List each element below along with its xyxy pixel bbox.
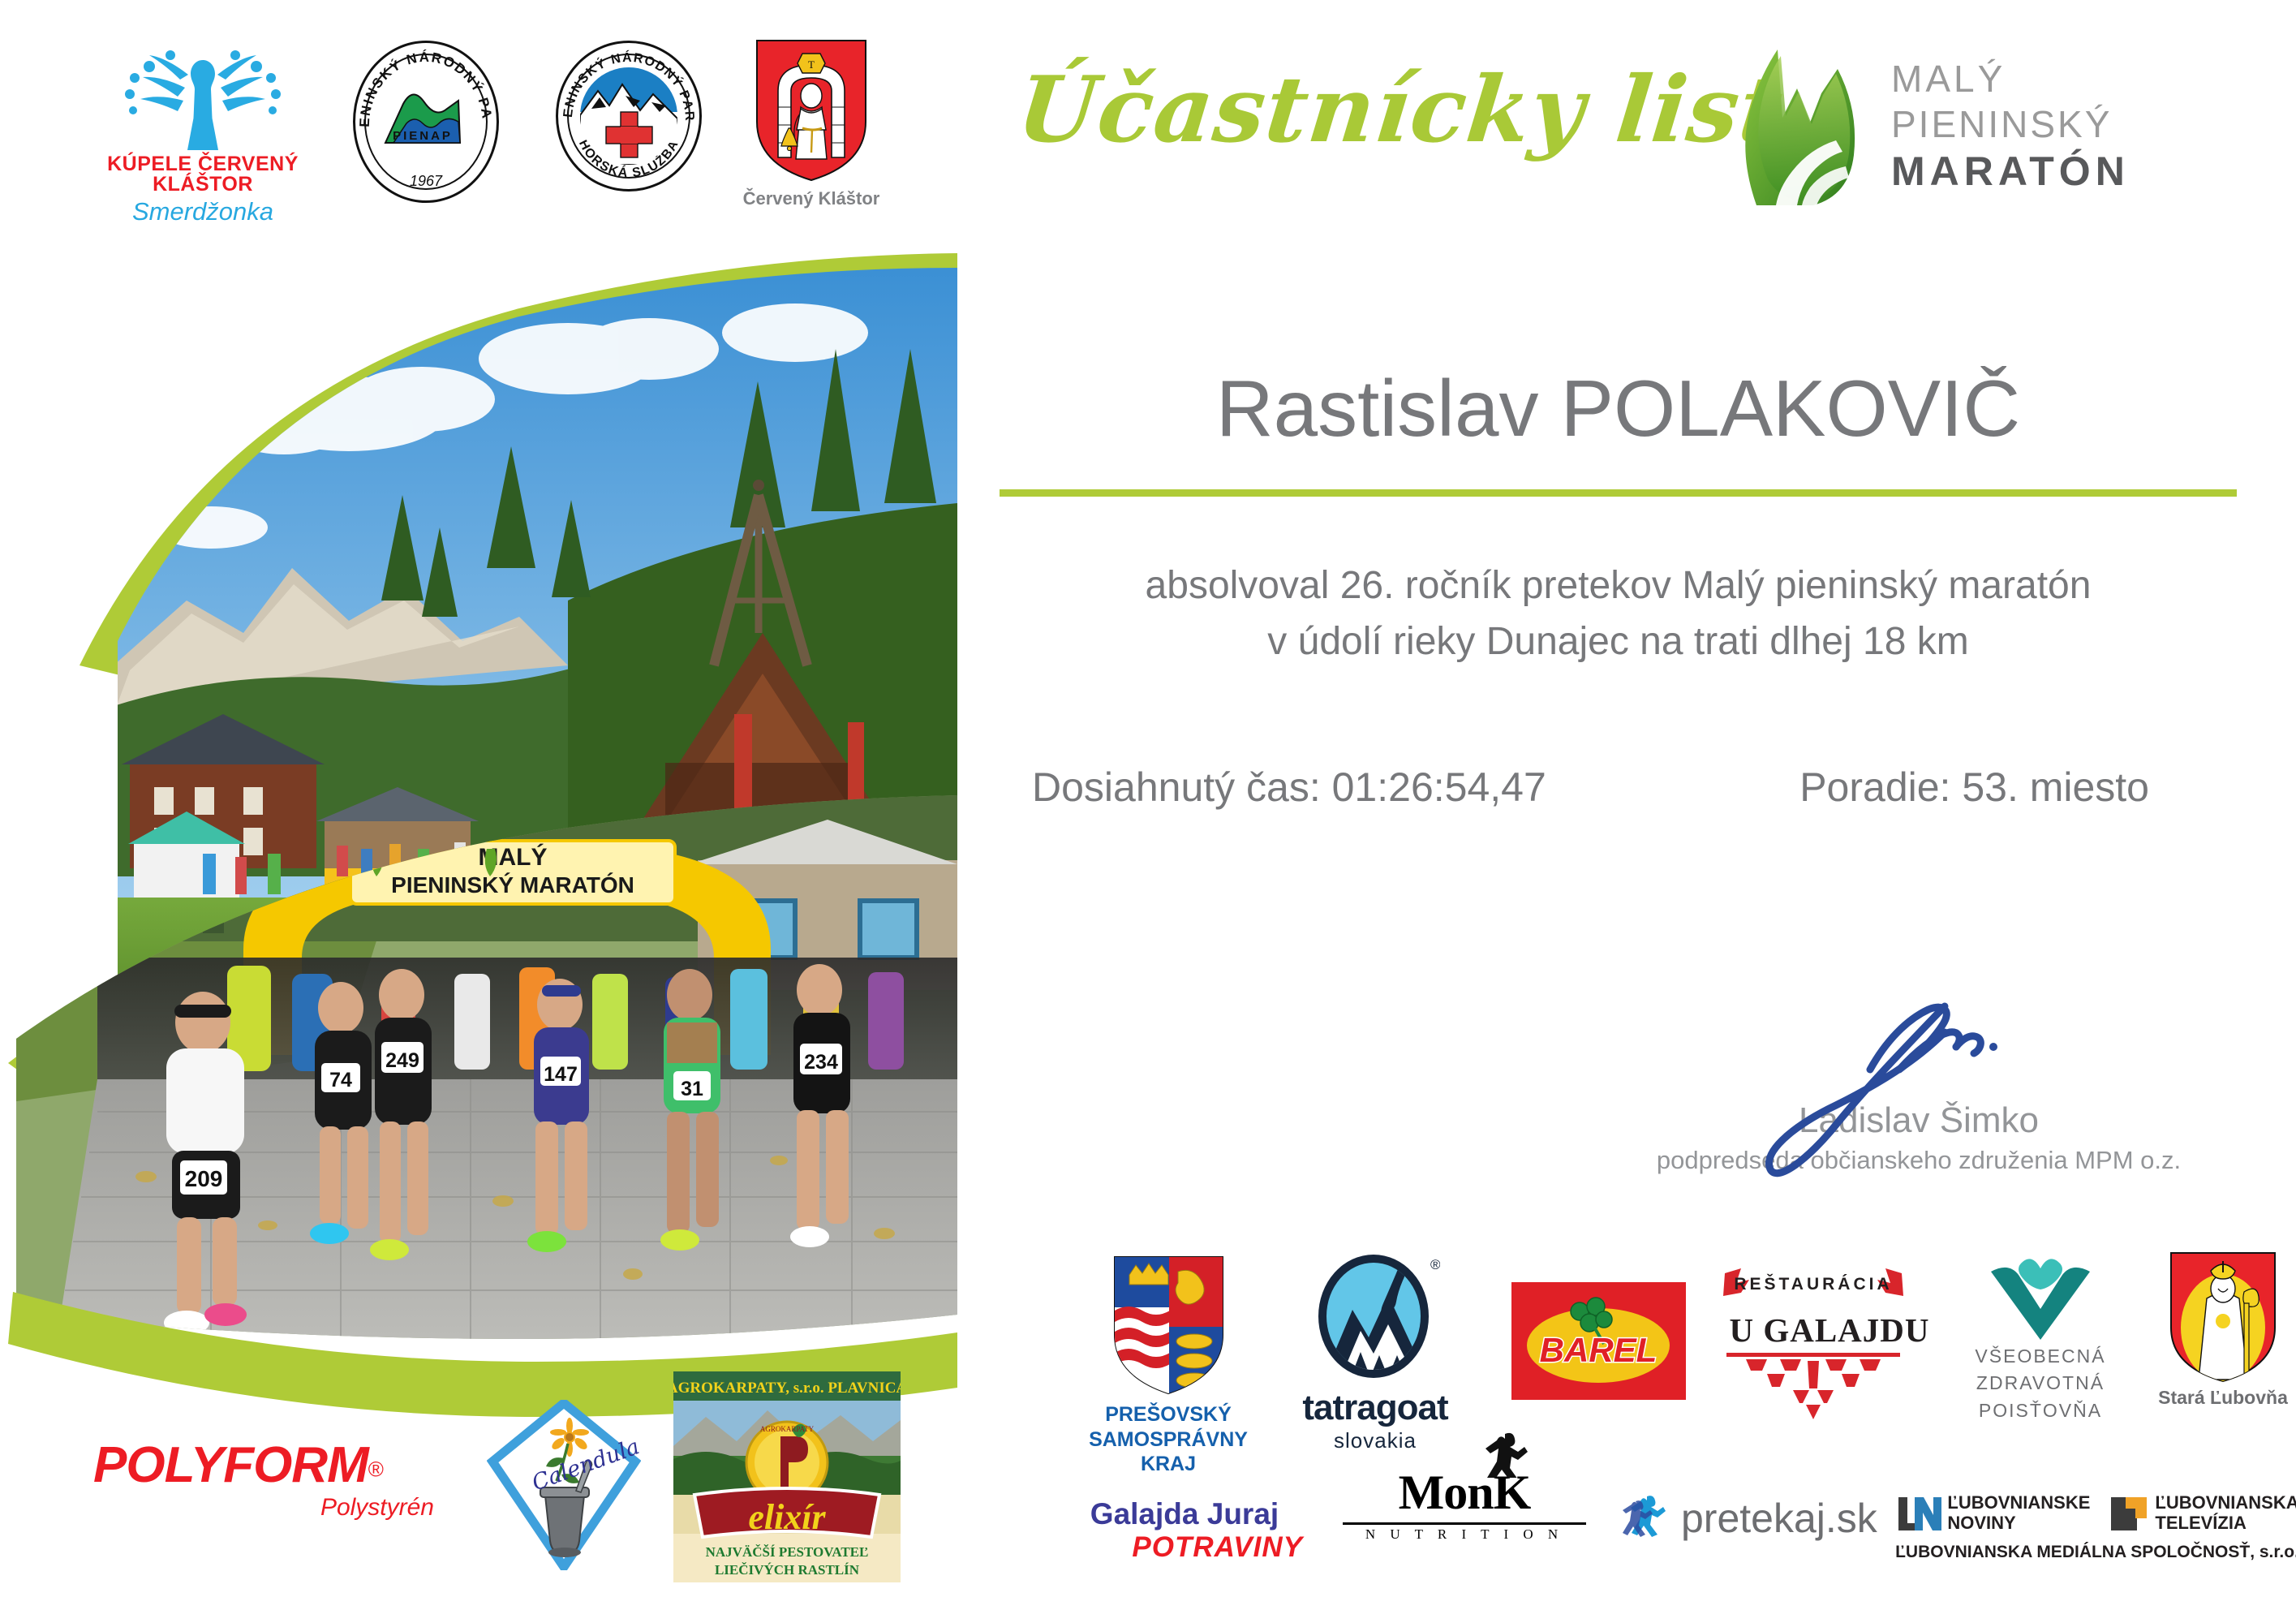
elixir-sub-1: NAJVÄČŠÍ PESTOVATEĽ (706, 1544, 869, 1560)
galajda-line-1: Galajda Juraj (1055, 1497, 1314, 1531)
leaf-mountain-icon (1732, 45, 1870, 207)
svg-text:74: 74 (329, 1069, 352, 1091)
finish-time: Dosiahnutý čas: 01:26:54,47 (1032, 764, 1546, 811)
recipient-name: Rastislav POLAKOVIČ (1000, 365, 2237, 453)
photo-collage: MALÝ PIENINSKÝ MARATÓN (0, 146, 957, 1461)
svg-text:209: 209 (185, 1166, 223, 1191)
galajdu-ornament-bottom-icon (1712, 1350, 1915, 1423)
brand-line-1: MALÝ (1891, 60, 2130, 97)
galajdu-ornament-top-icon: REŠTAURÁCIA (1712, 1262, 1915, 1311)
svg-text:31: 31 (681, 1078, 703, 1100)
sponsor-vseobecna-zdravotna-poistovna: VŠEOBECNÁ ZDRAVOTNÁ POISŤOVŇA (1947, 1254, 2134, 1424)
signature-block: Ladislav Šimko podpredseda občianskeho z… (1627, 998, 2211, 1175)
lt-mark-icon (2108, 1494, 2150, 1533)
sponsor-monk-nutrition: MonK N U T R I T I O N (1343, 1465, 1586, 1543)
certificate-description: absolvoval 26. ročník pretekov Malý pien… (1000, 558, 2237, 670)
tatragoat-sub: slovakia (1282, 1428, 1468, 1453)
monk-runner-icon (1481, 1432, 1537, 1478)
lubovnianske-noviny-logo: ĽUBOVNIANSKE NOVINY (1895, 1493, 2090, 1533)
elixir-word: elixír (748, 1497, 826, 1537)
sponsor-barel: BAREL (1497, 1282, 1700, 1404)
pretekaj-word: pretekaj.sk (1681, 1495, 1877, 1542)
galajdu-main-text: U GALAJDU (1712, 1311, 1947, 1350)
pretekaj-runners-icon (1623, 1493, 1673, 1543)
polyform-word: POLYFORM (93, 1437, 368, 1493)
lubovnianska-televizia-logo: ĽUBOVNIANSKA TELEVÍZIA (2108, 1493, 2296, 1533)
svg-text:AGROKARPATY: AGROKARPATY (760, 1425, 815, 1433)
svg-text:PIENAP: PIENAP (393, 129, 453, 143)
result-row: Dosiahnutý čas: 01:26:54,47 Poradie: 53.… (1000, 764, 2237, 811)
placement-rank: Poradie: 53. miesto (1799, 764, 2149, 811)
psk-coat-of-arms-icon (1110, 1254, 1228, 1396)
sponsor-presovsky-samospravny-kraj: PREŠOVSKÝSAMOSPRÁVNYKRAJ (1075, 1254, 1262, 1477)
svg-text:249: 249 (385, 1049, 419, 1072)
polyform-sub: Polystyrén (93, 1494, 434, 1522)
sponsor-agrokarpaty-elixir: AGROKARPATY, s.r.o. PLAVNICA AGROKARPATY… (673, 1371, 901, 1586)
stara-lubovna-coat-of-arms-icon (2166, 1250, 2280, 1384)
monk-sub: N U T R I T I O N (1343, 1526, 1586, 1543)
vzp-line-3: POISŤOVŇA (1947, 1397, 2134, 1424)
sponsor-stara-lubovna: Stará Ľubovňa (2146, 1250, 2296, 1409)
galajda-line-2: POTRAVINY (1055, 1531, 1314, 1564)
name-divider-rule (1000, 489, 2237, 497)
polyform-reg-icon: ® (368, 1457, 384, 1482)
svg-text:®: ® (1430, 1257, 1440, 1272)
calendula-icon: Calendula (487, 1400, 641, 1570)
ln-text: ĽUBOVNIANSKE NOVINY (1947, 1493, 2090, 1533)
brand-line-3: MARATÓN (1891, 151, 2130, 192)
elixir-top-text: AGROKARPATY, s.r.o. PLAVNICA (673, 1380, 901, 1397)
certificate-body: Rastislav POLAKOVIČ absolvoval 26. roční… (1000, 365, 2237, 811)
galajdu-top-text: REŠTAURÁCIA (1734, 1274, 1892, 1294)
stara-lubovna-label: Stará Ľubovňa (2146, 1387, 2296, 1409)
elixir-icon: AGROKARPATY, s.r.o. PLAVNICA AGROKARPATY… (673, 1371, 901, 1582)
gate-text-line2: PIENINSKÝ MARATÓN (391, 872, 634, 898)
sponsor-pretekaj-sk: pretekaj.sk (1623, 1493, 1882, 1543)
vzp-icon (1988, 1254, 2093, 1343)
monk-rule (1343, 1522, 1586, 1525)
ln-mark-icon (1895, 1494, 1942, 1533)
sponsor-polyform: POLYFORM® Polystyrén (93, 1436, 434, 1522)
lt-text: ĽUBOVNIANSKA TELEVÍZIA (2155, 1493, 2296, 1533)
vzp-line-2: ZDRAVOTNÁ (1947, 1370, 2134, 1397)
description-line-1: absolvoval 26. ročník pretekov Malý pien… (1000, 558, 2237, 614)
lms-footer-text: ĽUBOVNIANSKA MEDIÁLNA SPOLOČNOSŤ, s.r.o. (1894, 1543, 2296, 1562)
certificate-title: Účastnícky list (1013, 57, 1788, 163)
barel-word: BAREL (1539, 1331, 1657, 1369)
sponsor-lubovnianska-medialna-spolocnost: ĽUBOVNIANSKE NOVINY ĽUBOVNIANSKA TELEVÍZ… (1894, 1493, 2296, 1562)
event-brand-logo: MALÝ PIENINSKÝ MARATÓN (1732, 45, 2219, 207)
tatragoat-icon: ® (1310, 1250, 1440, 1388)
svg-text:234: 234 (804, 1051, 838, 1074)
monk-word: MonK (1343, 1465, 1586, 1521)
sponsor-galajda-juraj-potraviny: Galajda Juraj POTRAVINY (1055, 1497, 1314, 1564)
svg-text:T: T (808, 58, 815, 71)
tatragoat-word: tatragoat (1282, 1388, 1468, 1428)
description-line-2: v údolí rieky Dunajec na trati dlhej 18 … (1000, 613, 2237, 670)
barel-icon: BAREL (1511, 1282, 1686, 1400)
vzp-line-1: VŠEOBECNÁ (1947, 1343, 2134, 1370)
psk-label: PREŠOVSKÝSAMOSPRÁVNYKRAJ (1075, 1402, 1262, 1477)
elixir-sub-2: LIEČIVÝCH RASTLÍN (715, 1562, 860, 1578)
sponsor-tatragoat: ® tatragoat slovakia (1282, 1250, 1468, 1453)
brand-line-2: PIENINSKÝ (1891, 105, 2130, 143)
signature-ink-icon (1627, 998, 2211, 1128)
svg-text:147: 147 (544, 1063, 578, 1086)
sponsor-calendula: Calendula (483, 1400, 645, 1574)
smerdzonka-figure-icon (81, 32, 325, 154)
sponsor-restauracia-u-galajdu: REŠTAURÁCIA U GALAJDU (1712, 1262, 1947, 1423)
